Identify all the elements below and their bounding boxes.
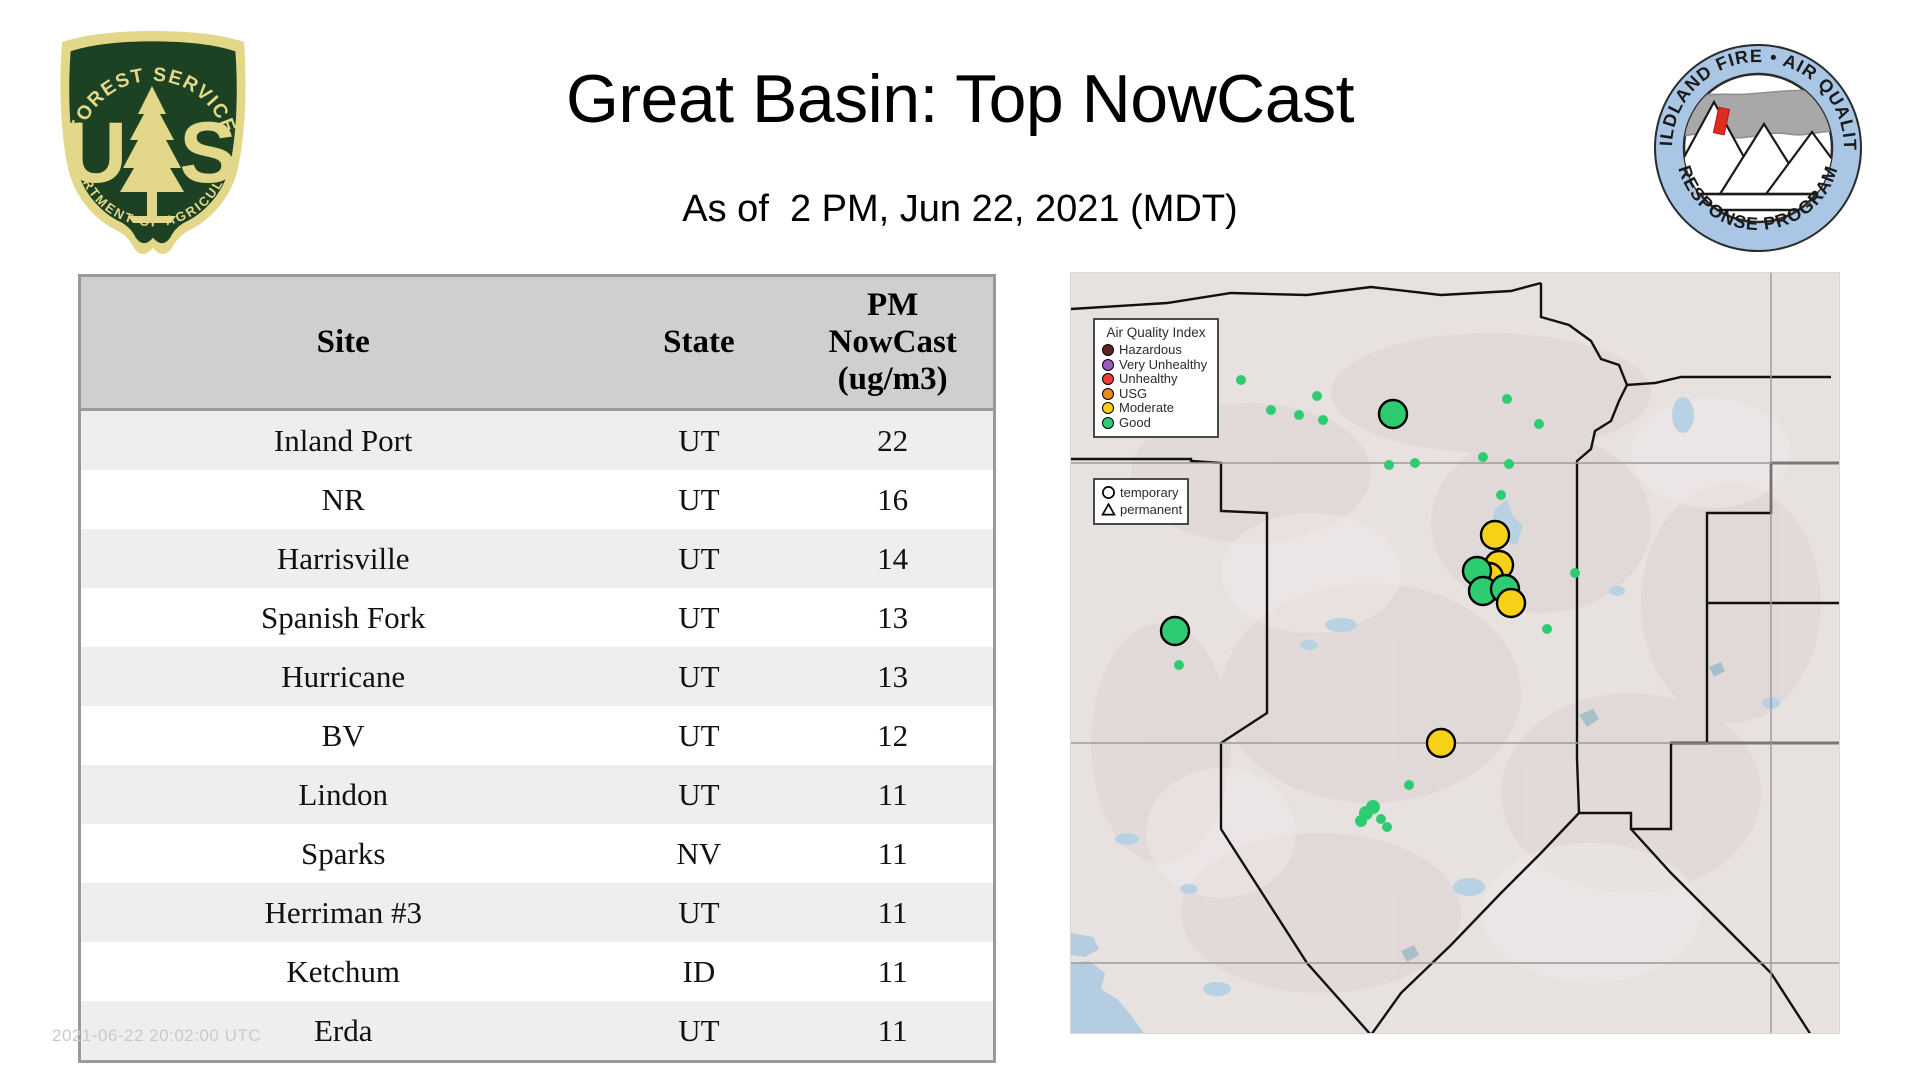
monitor-marker-moderate[interactable]: [1427, 729, 1455, 757]
legend-row-hazardous: Hazardous: [1102, 343, 1210, 358]
cell-site: Lindon: [81, 765, 605, 824]
cell-state: UT: [605, 647, 792, 706]
cell-site: BV: [81, 706, 605, 765]
monitor-marker-good[interactable]: [1366, 800, 1380, 814]
footer-timestamp: 2021-06-22 20:02:00 UTC: [52, 1026, 261, 1046]
monitor-type-legend: temporary permanent: [1093, 478, 1189, 525]
monitor-marker-moderate[interactable]: [1497, 589, 1525, 617]
table-row[interactable]: HarrisvilleUT14: [81, 529, 993, 588]
monitor-marker-good[interactable]: [1410, 458, 1420, 468]
legend-swatch-icon: [1102, 417, 1114, 429]
table-row[interactable]: Spanish ForkUT13: [81, 588, 993, 647]
legend-label: USG: [1119, 387, 1147, 401]
monitor-marker-good[interactable]: [1379, 400, 1407, 428]
cell-site: Ketchum: [81, 942, 605, 1001]
legend-label-temporary: temporary: [1120, 486, 1179, 500]
legend-row-very-unhealthy: Very Unhealthy: [1102, 358, 1210, 373]
cell-value: 11: [792, 765, 993, 824]
monitor-marker-good[interactable]: [1294, 410, 1304, 420]
cell-value: 16: [792, 470, 993, 529]
cell-value: 13: [792, 588, 993, 647]
aqi-legend-title: Air Quality Index: [1102, 325, 1210, 341]
monitor-marker-good[interactable]: [1534, 419, 1544, 429]
cell-site: Inland Port: [81, 410, 605, 471]
nowcast-table: Site State PM NowCast (ug/m3) Inland Por…: [78, 274, 996, 1063]
monitor-marker-good[interactable]: [1496, 490, 1506, 500]
monitor-marker-good[interactable]: [1504, 459, 1514, 469]
column-header-site-label: Site: [85, 324, 601, 361]
cell-value: 11: [792, 883, 993, 942]
legend-swatch-icon: [1102, 344, 1114, 356]
circle-icon: [1101, 485, 1116, 500]
column-header-state[interactable]: State: [605, 277, 792, 410]
monitor-marker-good[interactable]: [1382, 822, 1392, 832]
column-header-pm-nowcast[interactable]: PM NowCast (ug/m3): [792, 277, 993, 410]
air-quality-map[interactable]: Air Quality Index HazardousVery Unhealth…: [1070, 272, 1840, 1034]
monitor-marker-good[interactable]: [1478, 452, 1488, 462]
table-row[interactable]: KetchumID11: [81, 942, 993, 1001]
cell-value: 12: [792, 706, 993, 765]
cell-value: 11: [792, 1001, 993, 1060]
cell-state: UT: [605, 1001, 792, 1060]
column-header-pm-line1: PM: [796, 287, 989, 324]
cell-state: UT: [605, 470, 792, 529]
monitor-marker-good[interactable]: [1376, 814, 1386, 824]
legend-label: Good: [1119, 416, 1151, 430]
cell-site: Sparks: [81, 824, 605, 883]
cell-value: 13: [792, 647, 993, 706]
cell-value: 11: [792, 824, 993, 883]
legend-label-permanent: permanent: [1120, 503, 1182, 517]
legend-row-usg: USG: [1102, 387, 1210, 402]
column-header-pm-line3: (ug/m3): [796, 361, 989, 398]
cell-value: 14: [792, 529, 993, 588]
table-row[interactable]: HurricaneUT13: [81, 647, 993, 706]
aqi-legend: Air Quality Index HazardousVery Unhealth…: [1093, 318, 1219, 438]
monitor-marker-good[interactable]: [1570, 568, 1580, 578]
table-row[interactable]: LindonUT11: [81, 765, 993, 824]
cell-state: NV: [605, 824, 792, 883]
legend-swatch-icon: [1102, 388, 1114, 400]
column-header-site[interactable]: Site: [81, 277, 605, 410]
table-row[interactable]: SparksNV11: [81, 824, 993, 883]
cell-value: 11: [792, 942, 993, 1001]
triangle-icon: [1101, 502, 1116, 517]
legend-row-unhealthy: Unhealthy: [1102, 372, 1210, 387]
table-row[interactable]: Inland PortUT22: [81, 410, 993, 471]
column-header-pm-line2: NowCast: [796, 324, 989, 361]
cell-site: Harrisville: [81, 529, 605, 588]
cell-state: ID: [605, 942, 792, 1001]
legend-swatch-icon: [1102, 359, 1114, 371]
cell-state: UT: [605, 706, 792, 765]
table-row[interactable]: BVUT12: [81, 706, 993, 765]
cell-state: UT: [605, 588, 792, 647]
page-subtitle: As of 2 PM, Jun 22, 2021 (MDT): [0, 186, 1920, 232]
cell-site: Herriman #3: [81, 883, 605, 942]
legend-row-good: Good: [1102, 416, 1210, 431]
monitor-marker-good[interactable]: [1355, 815, 1367, 827]
monitor-marker-good[interactable]: [1404, 780, 1414, 790]
monitor-marker-good[interactable]: [1236, 375, 1246, 385]
monitor-marker-good[interactable]: [1384, 460, 1394, 470]
page-title: Great Basin: Top NowCast: [0, 58, 1920, 140]
legend-label: Unhealthy: [1119, 372, 1178, 386]
table-header-row: Site State PM NowCast (ug/m3): [81, 277, 993, 410]
legend-label: Very Unhealthy: [1119, 358, 1207, 372]
cell-state: UT: [605, 410, 792, 471]
legend-row-temporary: temporary: [1101, 484, 1181, 501]
monitor-marker-good[interactable]: [1542, 624, 1552, 634]
legend-label: Moderate: [1119, 401, 1174, 415]
cell-site: Spanish Fork: [81, 588, 605, 647]
monitor-marker-moderate[interactable]: [1481, 521, 1509, 549]
cell-value: 22: [792, 410, 993, 471]
monitor-marker-good[interactable]: [1174, 660, 1184, 670]
table-row[interactable]: Herriman #3UT11: [81, 883, 993, 942]
legend-swatch-icon: [1102, 373, 1114, 385]
legend-row-permanent: permanent: [1101, 501, 1181, 518]
monitor-marker-good[interactable]: [1318, 415, 1328, 425]
column-header-state-label: State: [609, 324, 788, 361]
legend-swatch-icon: [1102, 402, 1114, 414]
table-row[interactable]: NRUT16: [81, 470, 993, 529]
cell-state: UT: [605, 529, 792, 588]
legend-row-moderate: Moderate: [1102, 401, 1210, 416]
cell-site: NR: [81, 470, 605, 529]
cell-site: Hurricane: [81, 647, 605, 706]
monitor-marker-good[interactable]: [1161, 617, 1189, 645]
monitor-marker-good[interactable]: [1502, 394, 1512, 404]
cell-state: UT: [605, 765, 792, 824]
monitor-marker-good[interactable]: [1312, 391, 1322, 401]
monitor-marker-good[interactable]: [1266, 405, 1276, 415]
cell-state: UT: [605, 883, 792, 942]
legend-label: Hazardous: [1119, 343, 1182, 357]
